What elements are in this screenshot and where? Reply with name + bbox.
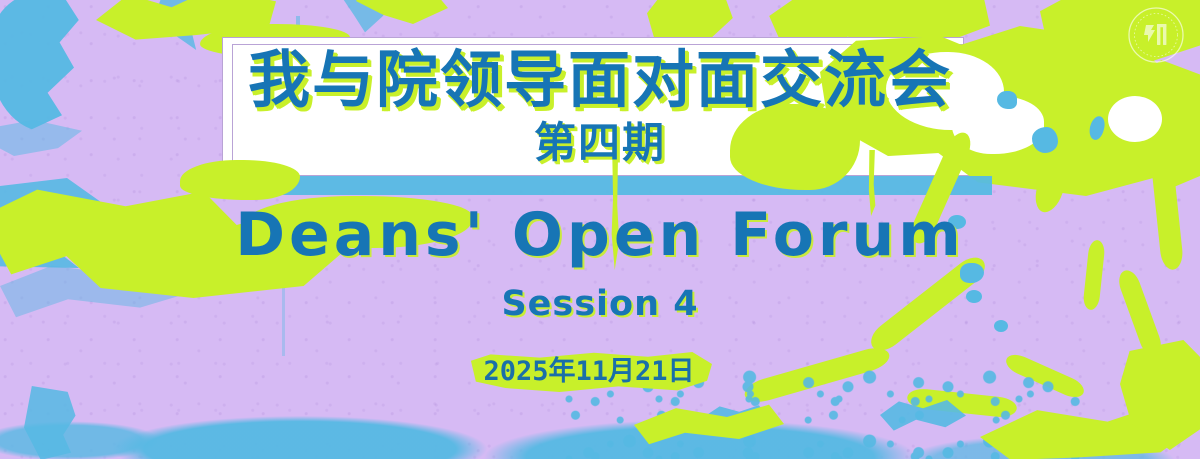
university-seal-logo [1127, 6, 1185, 64]
page-title-chinese: 我与院领导面对面交流会 [0, 44, 1200, 116]
page-subtitle-english: Session 4 [0, 283, 1200, 325]
cyan-underline-band [232, 176, 992, 195]
event-date-text: 2025年11月21日 [478, 355, 700, 389]
page-title-english: Deans' Open Forum [0, 200, 1200, 270]
event-date: 2025年11月21日 [478, 352, 700, 392]
page-subtitle-chinese: 第四期 [0, 118, 1200, 168]
event-poster: 我与院领导面对面交流会 第四期 Deans' Open Forum Sessio… [0, 0, 1200, 459]
